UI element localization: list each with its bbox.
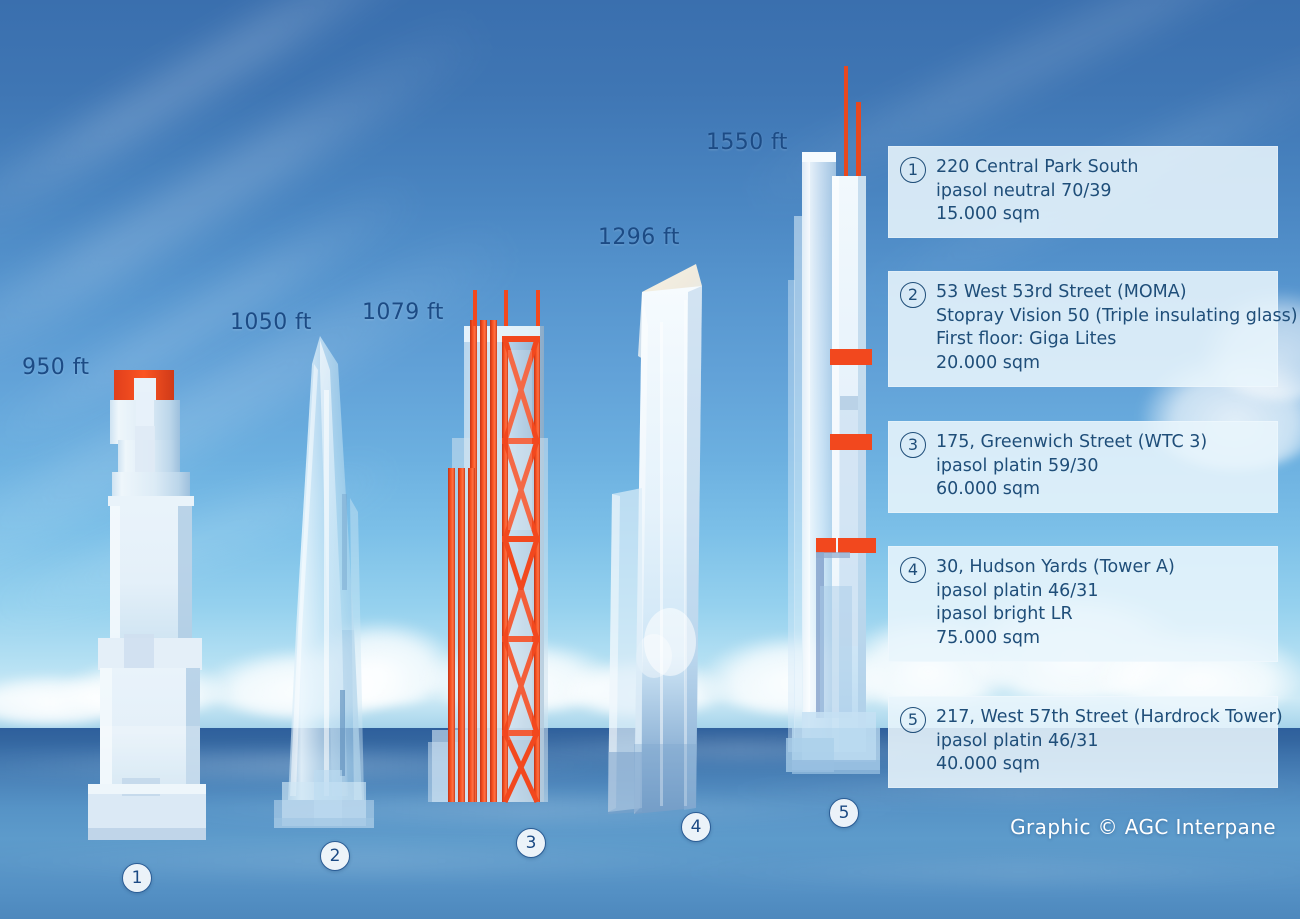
tower-217-west-57th-street xyxy=(786,66,882,808)
legend-line: 175, Greenwich Street (WTC 3) xyxy=(936,431,1207,455)
legend-line: ipasol platin 59/30 xyxy=(936,455,1207,479)
legend-line: ipasol platin 46/31 xyxy=(936,730,1283,754)
ground-marker-4[interactable]: 4 xyxy=(681,812,711,842)
legend-line: 15.000 sqm xyxy=(936,203,1139,227)
copyright-credit: Graphic © AGC Interpane xyxy=(1010,815,1276,839)
legend-line: ipasol neutral 70/39 xyxy=(936,180,1139,204)
ground-marker-5[interactable]: 5 xyxy=(829,798,859,828)
tower-5-graphic xyxy=(786,66,882,808)
legend-text-5: 217, West 57th Street (Hardrock Tower) i… xyxy=(936,706,1283,777)
legend-text-3: 175, Greenwich Street (WTC 3) ipasol pla… xyxy=(936,431,1207,502)
legend-line: 75.000 sqm xyxy=(936,627,1175,651)
legend-badge-1: 1 xyxy=(900,157,926,183)
tower-175-greenwich-street xyxy=(428,290,558,820)
legend-badge-3: 3 xyxy=(900,432,926,458)
height-label-1: 950 ft xyxy=(22,355,89,380)
legend-line: First floor: Giga Lites xyxy=(936,328,1298,352)
legend-item-1[interactable]: 1 220 Central Park South ipasol neutral … xyxy=(888,146,1278,238)
legend-line: 220 Central Park South xyxy=(936,156,1139,180)
tower-2-graphic xyxy=(268,330,380,842)
legend-badge-4: 4 xyxy=(900,557,926,583)
height-label-4: 1296 ft xyxy=(598,225,680,250)
legend-text-1: 220 Central Park South ipasol neutral 70… xyxy=(936,156,1139,227)
legend-line: Stopray Vision 50 (Triple insulating gla… xyxy=(936,305,1298,329)
legend-text-2: 53 West 53rd Street (MOMA) Stopray Visio… xyxy=(936,281,1298,376)
legend-line: 53 West 53rd Street (MOMA) xyxy=(936,281,1298,305)
tower-220-central-park-south xyxy=(82,366,212,852)
legend-item-4[interactable]: 4 30, Hudson Yards (Tower A) ipasol plat… xyxy=(888,546,1278,662)
infographic-canvas: 950 ft 1050 ft 1079 ft 1296 ft 1550 ft 1… xyxy=(0,0,1300,919)
legend-line: 20.000 sqm xyxy=(936,352,1298,376)
tower-30-hudson-yards xyxy=(598,252,710,814)
tower-4-graphic xyxy=(598,252,710,814)
legend-line: 30, Hudson Yards (Tower A) xyxy=(936,556,1175,580)
tower-1-graphic xyxy=(82,366,212,852)
tower-3-graphic xyxy=(428,290,558,820)
height-label-5: 1550 ft xyxy=(706,130,788,155)
cirrus-streak xyxy=(0,0,467,261)
ground-marker-3[interactable]: 3 xyxy=(516,828,546,858)
ground-marker-1[interactable]: 1 xyxy=(122,863,152,893)
legend-line: 217, West 57th Street (Hardrock Tower) xyxy=(936,706,1283,730)
height-label-2: 1050 ft xyxy=(230,310,312,335)
legend-line: ipasol platin 46/31 xyxy=(936,580,1175,604)
legend-text-4: 30, Hudson Yards (Tower A) ipasol platin… xyxy=(936,556,1175,651)
legend-item-5[interactable]: 5 217, West 57th Street (Hardrock Tower)… xyxy=(888,696,1278,788)
legend-badge-5: 5 xyxy=(900,707,926,733)
legend-item-2[interactable]: 2 53 West 53rd Street (MOMA) Stopray Vis… xyxy=(888,271,1278,387)
ground-marker-2[interactable]: 2 xyxy=(320,841,350,871)
height-label-3: 1079 ft xyxy=(362,300,444,325)
legend-item-3[interactable]: 3 175, Greenwich Street (WTC 3) ipasol p… xyxy=(888,421,1278,513)
legend-line: 40.000 sqm xyxy=(936,753,1283,777)
legend-line: ipasol bright LR xyxy=(936,603,1175,627)
tower-53-west-53rd-street xyxy=(268,330,380,842)
legend-badge-2: 2 xyxy=(900,282,926,308)
legend-line: 60.000 sqm xyxy=(936,478,1207,502)
